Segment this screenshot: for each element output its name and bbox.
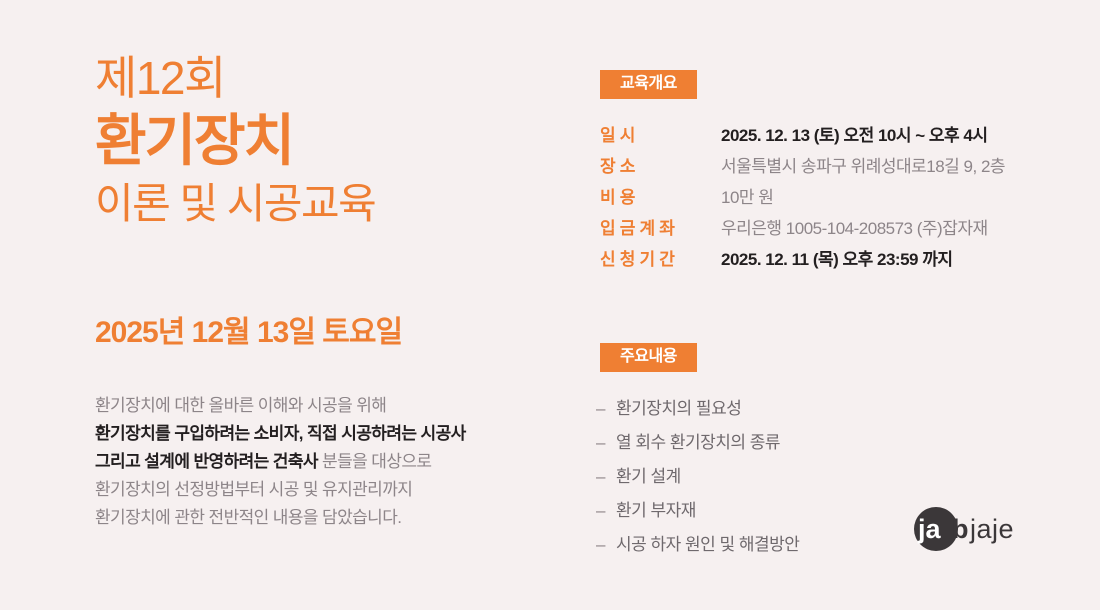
overview-label-account: 입 금 계 좌 — [590, 211, 720, 242]
overview-label-fee: 비 용 — [590, 180, 720, 211]
overview-label-deadline-text: 신 청 기 간 — [600, 245, 692, 270]
list-item: – 시공 하자 원인 및 해결방안 — [596, 528, 799, 562]
overview-value-account: 우리은행 1005-104-208573 (주)잡자재 — [720, 211, 1060, 242]
title-subtitle: 이론 및 시공교육 — [95, 179, 565, 229]
topic-label: 열 회수 환기장치의 종류 — [616, 426, 780, 460]
topic-label: 환기 설계 — [616, 460, 681, 494]
event-date: 2025년 12월 13일 토요일 — [95, 307, 402, 351]
list-item: – 열 회수 환기장치의 종류 — [596, 426, 799, 460]
topic-label: 환기장치의 필요성 — [616, 392, 741, 426]
logo-word-text: jaje — [969, 514, 1014, 544]
topics-badge: 주요내용 — [600, 343, 697, 372]
bullet-dash-icon: – — [596, 460, 616, 494]
bullet-dash-icon: – — [596, 392, 616, 426]
description-line-1: 환기장치에 대한 올바른 이해와 시공을 위해 — [95, 392, 575, 420]
title-section: 제12회 환기장치 이론 및 시공교육 — [95, 52, 565, 230]
title-main: 환기장치 — [95, 109, 565, 173]
overview-badge: 교육개요 — [600, 70, 697, 99]
poster-canvas: 제12회 환기장치 이론 및 시공교육 2025년 12월 13일 토요일 환기… — [0, 0, 1100, 610]
bullet-dash-icon: – — [596, 528, 616, 562]
list-item: – 환기 설계 — [596, 460, 799, 494]
description-line-5: 환기장치에 관한 전반적인 내용을 담았습니다. — [95, 504, 575, 532]
description-line-1-text: 환기장치에 대한 올바른 이해와 시공을 위해 — [95, 396, 386, 415]
description-line-2-bold: 환기장치를 구입하려는 소비자, 직접 시공하려는 시공사 — [95, 424, 466, 443]
overview-label-account-text: 입 금 계 좌 — [600, 214, 692, 239]
logo-tail-text: b — [952, 514, 969, 544]
description-block: 환기장치에 대한 올바른 이해와 시공을 위해 환기장치를 구입하려는 소비자,… — [95, 392, 575, 532]
list-item: – 환기장치의 필요성 — [596, 392, 799, 426]
table-row: 비 용 10만 원 — [590, 180, 1060, 211]
description-line-4-text: 환기장치의 선정방법부터 시공 및 유지관리까지 — [95, 480, 412, 499]
title-block: 제12회 환기장치 이론 및 시공교육 — [95, 52, 565, 230]
topics-badge-wrap: 주요내용 — [600, 343, 697, 372]
table-row: 신 청 기 간 2025. 12. 11 (목) 오후 23:59 까지 — [590, 242, 1060, 273]
table-row: 입 금 계 좌 우리은행 1005-104-208573 (주)잡자재 — [590, 211, 1060, 242]
list-item: – 환기 부자재 — [596, 494, 799, 528]
overview-table: 일 시 2025. 12. 13 (토) 오전 10시 ~ 오후 4시 장 소 … — [590, 118, 1060, 273]
overview-label-location: 장 소 — [590, 149, 720, 180]
overview-label-fee-text: 비 용 — [600, 183, 692, 208]
overview-label-deadline: 신 청 기 간 — [590, 242, 720, 273]
description-line-3-bold: 그리고 설계에 반영하려는 건축사 — [95, 452, 318, 471]
description-line-4: 환기장치의 선정방법부터 시공 및 유지관리까지 — [95, 476, 575, 504]
overview-value-deadline: 2025. 12. 11 (목) 오후 23:59 까지 — [720, 242, 1060, 273]
overview-label-location-text: 장 소 — [600, 152, 692, 177]
topic-label: 환기 부자재 — [616, 494, 696, 528]
bullet-dash-icon: – — [596, 426, 616, 460]
description-line-2: 환기장치를 구입하려는 소비자, 직접 시공하려는 시공사 — [95, 420, 575, 448]
description-line-3-plain: 분들을 대상으로 — [318, 452, 432, 471]
overview-label-datetime: 일 시 — [590, 118, 720, 149]
topics-list: – 환기장치의 필요성 – 열 회수 환기장치의 종류 – 환기 설계 – 환기… — [596, 392, 799, 562]
bullet-dash-icon: – — [596, 494, 616, 528]
overview-value-fee: 10만 원 — [720, 180, 1060, 211]
logo-mark-text: ja — [917, 514, 942, 544]
brand-logo: ja b jaje — [908, 505, 1038, 553]
overview-label-datetime-text: 일 시 — [600, 121, 692, 146]
description-line-3: 그리고 설계에 반영하려는 건축사 분들을 대상으로 — [95, 448, 575, 476]
overview-table-body: 일 시 2025. 12. 13 (토) 오전 10시 ~ 오후 4시 장 소 … — [590, 118, 1060, 273]
overview-value-location: 서울특별시 송파구 위례성대로18길 9, 2층 — [720, 149, 1060, 180]
overview-value-datetime: 2025. 12. 13 (토) 오전 10시 ~ 오후 4시 — [720, 118, 1060, 149]
jabjaje-logo-icon: ja b jaje — [908, 505, 1038, 553]
title-edition: 제12회 — [95, 52, 565, 105]
table-row: 일 시 2025. 12. 13 (토) 오전 10시 ~ 오후 4시 — [590, 118, 1060, 149]
table-row: 장 소 서울특별시 송파구 위례성대로18길 9, 2층 — [590, 149, 1060, 180]
topic-label: 시공 하자 원인 및 해결방안 — [616, 528, 799, 562]
overview-badge-wrap: 교육개요 — [600, 70, 697, 99]
description-line-5-text: 환기장치에 관한 전반적인 내용을 담았습니다. — [95, 508, 401, 527]
